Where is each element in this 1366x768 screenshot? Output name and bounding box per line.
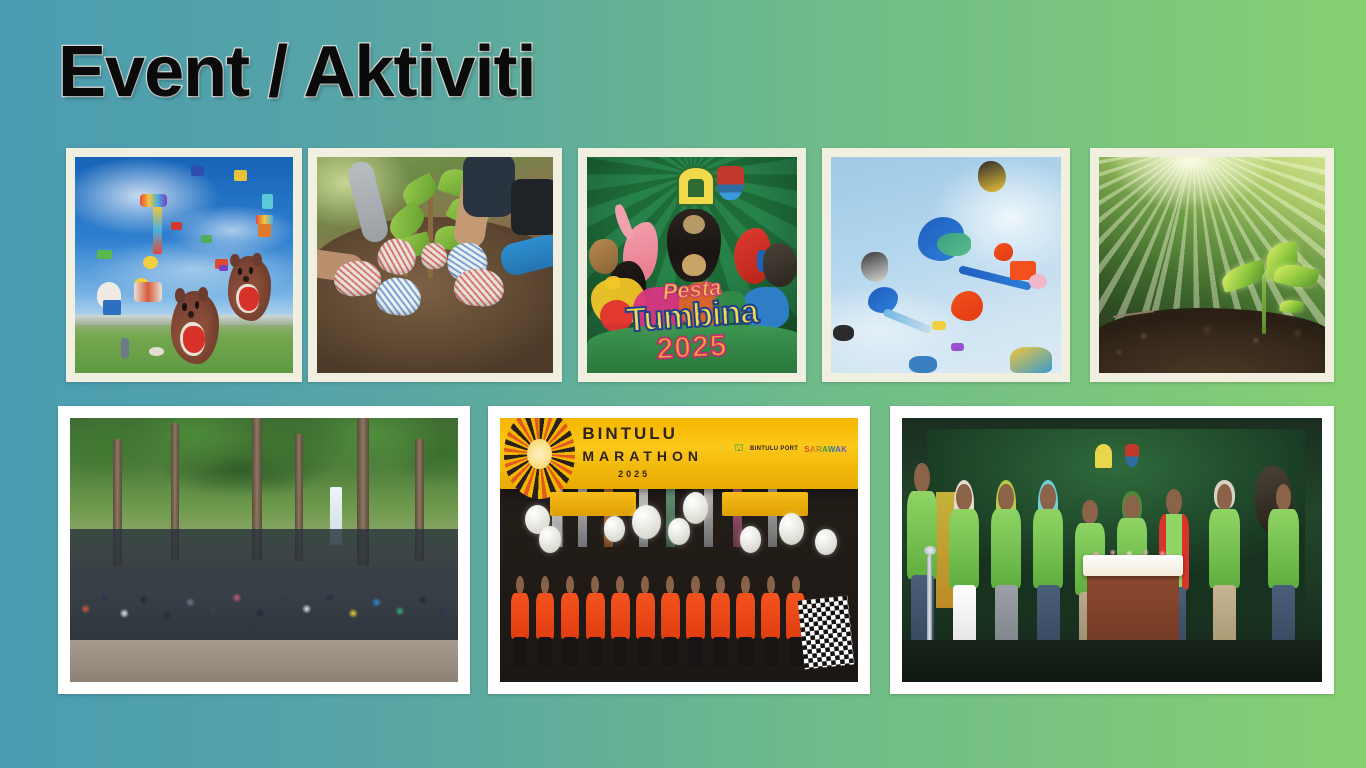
runner (686, 576, 705, 666)
runner-head (641, 576, 649, 594)
runner (586, 576, 605, 666)
tree-canopy (70, 418, 458, 545)
kite-bottom-right (1010, 347, 1051, 373)
person-head (998, 484, 1013, 511)
runner (736, 576, 755, 666)
runner-shirt (511, 593, 530, 640)
person-head (1040, 484, 1055, 511)
chipmunk-eye (195, 301, 199, 309)
runner (711, 576, 730, 666)
photo-frame-seedling[interactable] (1090, 148, 1334, 382)
runner-head (616, 576, 624, 594)
runner-head (767, 576, 775, 594)
kite-streamer (140, 194, 166, 207)
photo-frame-dragon-kites[interactable] (822, 148, 1070, 382)
photo-dragon-kites (831, 157, 1061, 373)
runner (661, 576, 680, 666)
person (1209, 484, 1241, 664)
person-head (1276, 484, 1291, 511)
chipmunk-eye (238, 268, 242, 275)
kite-chipmunk-front (171, 291, 219, 364)
person-head (1124, 495, 1139, 520)
runner-shirt (561, 593, 580, 640)
chipmunk-eye (182, 303, 186, 311)
chipmunk-eye (249, 267, 253, 274)
balloon (683, 492, 708, 524)
deer-graphic (589, 239, 618, 274)
kite-top-dark (978, 161, 1006, 191)
chipmunk-ear (252, 253, 262, 266)
banner-sponsor-logos: ⚜ ⛫ BINTULU PORT SARAWAK (718, 442, 847, 456)
runner-shirt (686, 593, 705, 640)
kite-chipmunk-back (228, 256, 272, 321)
slide-canvas: Event / Aktiviti (0, 0, 1366, 768)
kite-dragon-lightblue (868, 287, 898, 313)
runner-head (792, 576, 800, 594)
runner-legs (688, 637, 702, 666)
kite-small (258, 222, 271, 237)
runner-shirt (536, 593, 555, 640)
kite-small (97, 250, 112, 259)
runner-shirt (586, 593, 605, 640)
runner-legs (588, 637, 602, 666)
kite-yellow-small (932, 321, 946, 330)
bag (511, 179, 553, 235)
photo-tree-planting (317, 157, 553, 373)
photo-frame-pesta-tumbina[interactable]: Pesta Tumbina 2025 (578, 148, 806, 382)
arm-sleeve-dark (463, 157, 515, 217)
runner (536, 576, 555, 666)
kite-small (201, 235, 212, 244)
photo-frame-bintulu-marathon[interactable]: BINTULU MARATHON 2025 ⚜ ⛫ BINTULU PORT S… (488, 406, 870, 694)
backdrop-state-crest-icon (1125, 444, 1139, 466)
runner-legs (538, 637, 552, 666)
kite-bear-body (103, 300, 120, 315)
kite-dragon-body (937, 233, 972, 257)
chipmunk-vest (183, 326, 205, 352)
chipmunk-ear (198, 287, 209, 302)
balloon (740, 526, 761, 552)
organiser-logo-icon (677, 166, 715, 207)
kite-small (262, 194, 273, 209)
kite-fish (134, 282, 162, 301)
person-shirt (907, 491, 938, 579)
photo-park-gathering (70, 418, 458, 682)
runner-head (716, 576, 724, 594)
marathon-sunburst-logo-icon (504, 418, 576, 499)
kite-tail (153, 207, 162, 255)
person (1032, 484, 1064, 664)
council-logo-icon: ⛫ (734, 442, 744, 456)
runner-head (741, 576, 749, 594)
runner (511, 576, 530, 666)
runner-shirt (711, 593, 730, 640)
person-shirt (1033, 509, 1064, 588)
kite-small (219, 265, 228, 271)
person-walking (121, 338, 130, 357)
person-head (1166, 489, 1181, 515)
gantry-bar-right (722, 492, 808, 516)
kite-orange-small (994, 243, 1012, 260)
person-head (914, 463, 929, 493)
chipmunk-vest (239, 287, 259, 310)
marathon-banner: BINTULU MARATHON 2025 ⚜ ⛫ BINTULU PORT S… (500, 418, 858, 489)
person-head (1082, 500, 1097, 525)
runner-shirt (636, 593, 655, 640)
runner-head (541, 576, 549, 594)
person-shirt (1268, 509, 1299, 588)
runner-legs (764, 637, 778, 666)
runner (636, 576, 655, 666)
kite-streamer (256, 215, 273, 224)
photo-kite-festival (75, 157, 293, 373)
runner (761, 576, 780, 666)
checkered-flag (797, 595, 854, 668)
photo-frame-tree-planting[interactable] (308, 148, 562, 382)
runner-head (691, 576, 699, 594)
photo-frame-cake-ceremony[interactable] (890, 406, 1334, 694)
ceremonial-cake (1083, 555, 1184, 576)
banner-year: 2025 (618, 469, 650, 479)
soil-bed (1099, 308, 1325, 373)
person-head (956, 484, 971, 511)
person (1267, 484, 1299, 664)
backdrop-council-logo-icon (1095, 444, 1112, 468)
sponsor-sarawak: SARAWAK (804, 445, 847, 454)
photo-frame-kite-festival[interactable] (66, 148, 302, 382)
person (906, 463, 938, 664)
runner-legs (613, 637, 627, 666)
balloon (539, 526, 560, 552)
sponsor-bintulu-port: BINTULU PORT (750, 446, 798, 452)
seedling-stem (1262, 269, 1266, 334)
ground-object (149, 347, 164, 356)
stage-floor (902, 640, 1322, 682)
state-crest-icon (717, 166, 744, 201)
chipmunk-nose (243, 276, 248, 282)
chipmunk-ear (230, 254, 240, 267)
person-shirt (949, 509, 980, 588)
photo-frame-park-gathering[interactable] (58, 406, 470, 694)
gantry-bar-left (550, 492, 636, 516)
kite-dinosaur-orange (951, 291, 983, 321)
sarawak-crest-icon: ⚜ (718, 443, 728, 456)
banner-line-bintulu: BINTULU (582, 424, 678, 444)
kite-black-white (861, 252, 889, 282)
runner (611, 576, 630, 666)
kite-pink (1029, 274, 1047, 289)
banner-line-marathon: MARATHON (582, 448, 703, 464)
runner-legs (513, 637, 527, 666)
person-shirt (1209, 509, 1240, 588)
person-shirt (991, 509, 1022, 588)
runner-head (666, 576, 674, 594)
crowd-of-people (70, 529, 458, 640)
photo-bintulu-marathon: BINTULU MARATHON 2025 ⚜ ⛫ BINTULU PORT S… (500, 418, 858, 682)
runner-head (516, 576, 524, 594)
sun-bear-graphic (667, 209, 722, 282)
kite-small (171, 222, 182, 231)
person (990, 484, 1022, 664)
balloon (779, 513, 804, 545)
chipmunk-nose (188, 311, 194, 318)
runner-legs (738, 637, 752, 666)
runner-shirt (661, 593, 680, 640)
runner-legs (713, 637, 727, 666)
sapling-leaf (398, 172, 440, 210)
runner-legs (789, 637, 803, 666)
kite-dragon-blue (918, 217, 964, 260)
kite-dark-small (833, 325, 854, 340)
photo-seedling (1099, 157, 1325, 373)
kite-smiley (143, 256, 158, 269)
chipmunk-ear (175, 288, 186, 303)
kite-small (234, 170, 247, 181)
runner-legs (563, 637, 577, 666)
kite-small (191, 166, 204, 177)
runner-head (591, 576, 599, 594)
runner (561, 576, 580, 666)
runner-shirt (761, 593, 780, 640)
page-title: Event / Aktiviti (58, 36, 535, 108)
photo-pesta-tumbina-poster: Pesta Tumbina 2025 (587, 157, 797, 373)
kite-purple-small (951, 343, 965, 352)
balloon (668, 518, 689, 544)
kite-bottom-blue (909, 356, 937, 373)
balloon (815, 529, 836, 555)
kite-dragon-tail (882, 308, 932, 334)
runner-legs (638, 637, 652, 666)
person (948, 484, 980, 664)
runner-shirt (611, 593, 630, 640)
runner-head (566, 576, 574, 594)
runner-shirt (736, 593, 755, 640)
runner-legs (663, 637, 677, 666)
person-head (1217, 484, 1232, 511)
photo-cake-ceremony (902, 418, 1322, 682)
